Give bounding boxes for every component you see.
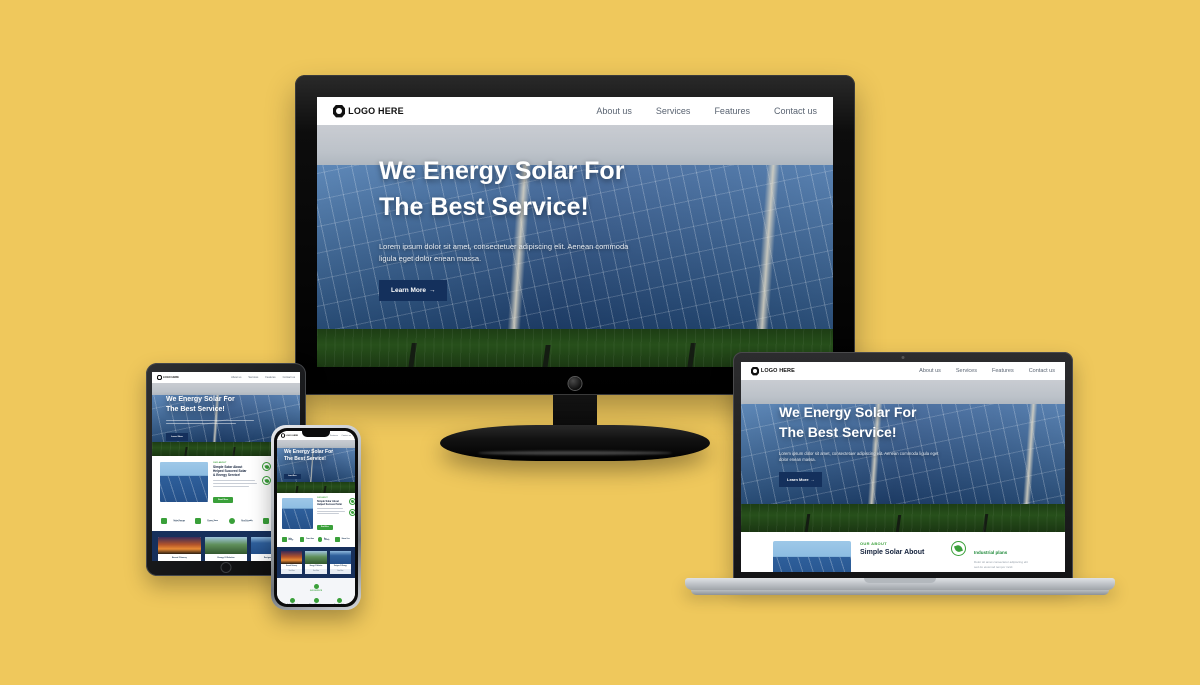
nav-item-contact-us[interactable]: Contact us <box>283 376 295 379</box>
device-laptop: LOGO HERE About us Services Features Con… <box>685 352 1115 602</box>
globe-icon <box>229 518 235 524</box>
nav-item-features[interactable]: Features <box>265 376 275 379</box>
nav-item-services[interactable]: Services <box>956 368 977 374</box>
hexagon-logo-icon <box>281 433 285 438</box>
stat-title: Eco Friendly <box>324 539 332 541</box>
hero-cta-label: Learn More <box>787 477 809 482</box>
card-item[interactable]: Energy Of Solution View More <box>205 537 248 561</box>
hexagon-logo-icon <box>157 375 162 381</box>
brand-name: LOGO HERE <box>761 368 795 374</box>
nav-links: About us Services Features Contact us <box>596 106 817 116</box>
about-eyebrow: OUR ABOUT <box>213 462 257 464</box>
hero-section: We Energy Solar For The Best Service! Lo… <box>317 125 833 367</box>
leaf-icon <box>314 584 319 589</box>
about-eyebrow: OUR ABOUT <box>860 541 942 546</box>
tablet-home-button[interactable] <box>221 562 232 573</box>
stat-title: Solar Energy <box>289 539 297 541</box>
hero-paragraph: Lorem ipsum dolor sit amet, consectetuer… <box>379 241 647 264</box>
nav-item-contact-us[interactable]: Contact us <box>774 106 817 116</box>
hero-cta-button[interactable]: Learn More → <box>779 472 822 487</box>
hero-heading-line1: We Energy Solar For <box>379 155 709 187</box>
device-monitor: LOGO HERE About us Services Features Con… <box>295 75 855 395</box>
panel-leg <box>895 515 900 532</box>
globe-icon <box>318 537 323 542</box>
hero-grass <box>277 482 355 493</box>
card-button[interactable]: View More <box>330 569 351 574</box>
panel-leg <box>233 447 236 456</box>
about-section: OUR ABOUT Simple Solar About Industrial … <box>741 532 1065 572</box>
about-feature: Industrial plans Dolor sit amet consecte… <box>951 541 1033 569</box>
arrow-right-icon: → <box>810 477 814 482</box>
hero-cta-label: Learn More <box>391 287 426 294</box>
hero-heading-line2: The Best Service! <box>166 406 276 415</box>
about-eyebrow: OUR ABOUT <box>317 498 345 499</box>
panel-leg <box>542 345 550 367</box>
laptop-foot <box>691 590 1109 595</box>
phone-frame: LOGO HERE About us Services Features Con… <box>271 425 361 610</box>
leaf-icon <box>262 476 271 485</box>
plug-icon <box>300 537 305 542</box>
stat-title: Power Save <box>306 539 314 540</box>
stat-item: Solar Energy Clean & Green <box>161 518 189 524</box>
hero-heading-line1: We Energy Solar For <box>284 449 350 455</box>
site-navbar: LOGO HERE About us Services Features Con… <box>317 97 833 125</box>
features-eyebrow: OUR SERVICE <box>282 591 350 592</box>
about-paragraph-lines <box>213 480 257 487</box>
laptop-screen: LOGO HERE About us Services Features Con… <box>741 362 1065 572</box>
about-heading-line3: & Energy Service! <box>213 473 257 477</box>
features-section: OUR SERVICE Solar Of Panel Read More Nat… <box>277 578 355 604</box>
about-feature-title: Industrial plans <box>974 550 1007 555</box>
battery-icon <box>161 518 167 524</box>
about-section: OUR ABOUT Simple Solar About Helped Succ… <box>277 493 355 537</box>
nav-item-about-us[interactable]: About us <box>919 368 941 374</box>
hero-copy: We Energy Solar For The Best Service! Lo… <box>779 404 1009 487</box>
laptop-trackpad-notch <box>864 578 936 583</box>
hero-paragraph-lines <box>166 420 276 424</box>
cards-section: Normal Chimney View More Energy Of Solut… <box>277 547 355 578</box>
hero-copy: We Energy Solar For The Best Service! Le… <box>166 396 276 442</box>
about-photo <box>160 462 208 502</box>
battery-icon <box>282 537 287 542</box>
stat-item: Power Save Low Cost <box>195 518 223 524</box>
brand[interactable]: LOGO HERE <box>157 375 179 381</box>
stat-title: Nature Care <box>342 539 350 540</box>
laptop-base <box>685 578 1115 590</box>
leaf-icon <box>349 498 355 505</box>
nav-item-services[interactable]: Services <box>656 106 691 116</box>
panel-leg <box>408 343 417 367</box>
nav-item-features[interactable]: Features <box>992 368 1014 374</box>
about-heading-line2: Helped Succeed Solar <box>317 503 345 506</box>
panel-seam <box>1023 404 1038 506</box>
hero-cta-label: Learn More <box>171 436 183 438</box>
feature-col[interactable]: Solar Of Panel Read More <box>282 598 303 604</box>
nav-item-contact-us[interactable]: Contact us <box>341 435 351 437</box>
hero-heading-line1: We Energy Solar For <box>779 404 1009 422</box>
panel-icon <box>290 598 295 603</box>
brand-name: LOGO HERE <box>348 106 404 116</box>
nav-item-about-us[interactable]: About us <box>596 106 632 116</box>
hexagon-logo-icon <box>333 105 345 118</box>
stat-item: Eco Friendly Renewable <box>229 518 257 524</box>
about-paragraph-lines <box>317 508 345 514</box>
website-laptop: LOGO HERE About us Services Features Con… <box>741 362 1065 572</box>
hero-section: We Energy Solar For The Best Service! Lo… <box>741 380 1065 532</box>
device-phone: LOGO HERE About us Services Features Con… <box>271 425 361 610</box>
about-feature-desc: Dolor sit amet consectetur adipiscing el… <box>974 560 1033 569</box>
leaf-icon <box>349 509 355 516</box>
arrow-right-icon: → <box>429 287 436 294</box>
monitor-base <box>440 425 710 461</box>
card-item[interactable]: Energy Of Solution View More <box>305 551 326 574</box>
about-cta-button[interactable]: Read More <box>317 525 333 530</box>
hero-cta-button[interactable]: Learn More <box>166 433 188 441</box>
monitor-screen: LOGO HERE About us Services Features Con… <box>317 97 833 367</box>
website-phone: LOGO HERE About us Services Features Con… <box>277 431 355 604</box>
card-image <box>281 551 302 564</box>
stat-sub: Renewable <box>241 522 252 523</box>
card-image <box>158 537 201 554</box>
hero-copy: We Energy Solar For The Best Service! Lo… <box>379 155 709 301</box>
stat-sub: Low Cost <box>207 522 218 523</box>
card-button[interactable]: View More <box>281 569 302 574</box>
hero-heading-line2: The Best Service! <box>284 456 350 462</box>
card-title: Normal Chimney <box>158 554 201 561</box>
hero-cta-label: Learn More <box>288 476 297 477</box>
panel-leg <box>983 514 989 532</box>
hero-heading-line2: The Best Service! <box>779 424 1009 442</box>
card-button[interactable]: View More <box>305 569 326 574</box>
stat-item: Solar Energy <box>282 537 297 542</box>
nav-item-services[interactable]: Services <box>248 376 258 379</box>
leaf-icon <box>951 541 966 556</box>
nav-links: About us Services Features Contact us <box>231 376 295 379</box>
monitor-power-button[interactable] <box>569 377 582 390</box>
nav-item-features[interactable]: Features <box>714 106 750 116</box>
stat-item: Eco Friendly <box>318 537 333 542</box>
hero-grass <box>741 504 1065 532</box>
website-desktop: LOGO HERE About us Services Features Con… <box>317 97 833 367</box>
stat-sub: Clean & Green <box>173 522 185 523</box>
plug-icon <box>195 518 201 524</box>
about-heading: Simple Solar About <box>860 548 942 557</box>
hero-cta-button[interactable]: Learn More <box>284 474 301 479</box>
panel-leg <box>323 486 325 493</box>
tree-icon <box>263 518 269 524</box>
card-item[interactable]: Designer Of Energy View More <box>330 551 351 574</box>
wind-icon <box>314 598 319 603</box>
hero-section: We Energy Solar For The Best Service! Le… <box>277 440 355 493</box>
about-feature: Industrial plans <box>349 498 355 505</box>
power-icon <box>337 598 342 603</box>
nav-item-features[interactable]: Features <box>330 435 338 437</box>
hexagon-logo-icon <box>751 367 759 376</box>
panel-seam <box>755 165 780 333</box>
nav-item-about-us[interactable]: About us <box>231 376 241 379</box>
leaf-icon <box>262 462 271 471</box>
about-feature: Energy Of Solar <box>349 509 355 516</box>
phone-screen: LOGO HERE About us Services Features Con… <box>277 431 355 604</box>
laptop-camera-icon <box>902 356 905 359</box>
nav-links: About us Services Features Contact us <box>919 368 1055 374</box>
feature-col[interactable]: Complete Solar Read More <box>329 598 350 604</box>
mockup-scene: LOGO HERE About us Services Features Con… <box>0 0 1200 685</box>
about-photo <box>282 498 313 529</box>
brand[interactable]: LOGO HERE <box>333 105 404 118</box>
hero-heading-line2: The Best Service! <box>379 191 709 223</box>
tree-icon <box>335 537 340 542</box>
card-image <box>305 551 326 564</box>
hero-copy: We Energy Solar For The Best Service! Le… <box>284 449 350 481</box>
brand[interactable]: LOGO HERE <box>281 433 298 438</box>
feature-col[interactable]: Natural Chemistry Read More <box>306 598 327 604</box>
laptop-lid: LOGO HERE About us Services Features Con… <box>733 352 1073 580</box>
nav-item-contact-us[interactable]: Contact us <box>1029 368 1055 374</box>
panel-leg <box>295 486 297 493</box>
stat-item: Power Save <box>300 537 315 542</box>
phone-notch <box>302 431 330 437</box>
panel-leg <box>184 447 187 456</box>
phone-inner-bezel: LOGO HERE About us Services Features Con… <box>274 428 358 607</box>
hero-cta-button[interactable]: Learn More → <box>379 280 447 301</box>
site-navbar: LOGO HERE About us Services Features Con… <box>741 362 1065 380</box>
site-navbar: LOGO HERE About us Services Features Con… <box>152 372 300 383</box>
card-image <box>330 551 351 564</box>
card-item[interactable]: Normal Chimney View More <box>281 551 302 574</box>
card-image <box>205 537 248 554</box>
features-row: Solar Of Panel Read More Natural Chemist… <box>282 598 350 604</box>
card-title: Energy Of Solution <box>205 554 248 561</box>
about-cta-button[interactable]: Read More <box>213 497 233 503</box>
hero-heading-line1: We Energy Solar For <box>166 396 276 405</box>
stat-item: Nature Care <box>335 537 350 542</box>
card-item[interactable]: Normal Chimney View More <box>158 537 201 561</box>
panel-leg <box>805 514 811 532</box>
brand-name: LOGO HERE <box>163 376 179 379</box>
about-photo <box>773 541 851 572</box>
brand[interactable]: LOGO HERE <box>751 367 795 376</box>
hero-paragraph: Lorem ipsum dolor sit amet, consectetuer… <box>779 451 944 464</box>
stats-row: Solar Energy Power Save Eco Friendly <box>277 537 355 547</box>
brand-name: LOGO HERE <box>286 435 298 437</box>
